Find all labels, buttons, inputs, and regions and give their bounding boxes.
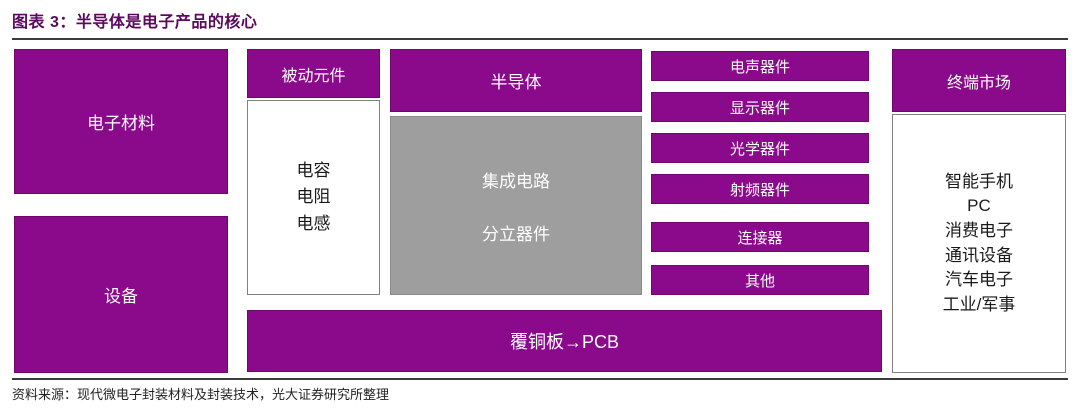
device-bar-connector: 连接器 [651, 222, 869, 252]
device-bar-label: 光学器件 [730, 138, 790, 159]
source-divider [12, 378, 1068, 380]
device-bar-label: 显示器件 [730, 97, 790, 118]
block-passive-components-body: 电容 电阻 电感 [247, 100, 380, 295]
end-market-item: 消费电子 [945, 219, 1013, 244]
figure-title: 图表 3：半导体是电子产品的核心 [12, 8, 257, 32]
title-divider [12, 38, 1068, 40]
block-end-market-title: 终端市场 [947, 69, 1011, 93]
block-end-market-body: 智能手机 PC 消费电子 通讯设备 汽车电子 工业/军事 [892, 114, 1066, 373]
device-bar-electroacoustic: 电声器件 [651, 51, 869, 81]
device-bar-display: 显示器件 [651, 92, 869, 122]
block-equipment-label: 设备 [104, 282, 138, 307]
device-bar-other: 其他 [651, 265, 869, 295]
block-semiconductor-title: 半导体 [491, 68, 542, 93]
semiconductor-item: 分立器件 [482, 220, 550, 245]
block-pcb-bar: 覆铜板→PCB [247, 310, 882, 372]
block-semiconductor-body: 集成电路 分立器件 [390, 116, 642, 295]
semiconductor-item: 集成电路 [482, 167, 550, 192]
end-market-item: PC [967, 194, 991, 219]
end-market-item: 智能手机 [945, 170, 1013, 195]
block-passive-components-header: 被动元件 [247, 49, 380, 98]
end-market-item: 通讯设备 [945, 244, 1013, 269]
device-bar-label: 其他 [745, 270, 775, 291]
block-semiconductor-header: 半导体 [390, 49, 642, 112]
passive-item: 电感 [297, 211, 331, 237]
block-pcb-label: 覆铜板→PCB [510, 328, 619, 354]
device-bar-optical: 光学器件 [651, 133, 869, 163]
block-passive-components-title: 被动元件 [281, 62, 345, 86]
block-electronic-materials: 电子材料 [14, 49, 228, 194]
block-electronic-materials-label: 电子材料 [87, 109, 155, 134]
passive-item: 电容 [297, 158, 331, 184]
block-equipment: 设备 [14, 216, 228, 373]
device-bar-label: 连接器 [737, 227, 782, 248]
device-bar-label: 射频器件 [730, 179, 790, 200]
device-bar-label: 电声器件 [730, 56, 790, 77]
source-note: 资料来源：现代微电子封装材料及封装技术，光大证券研究所整理 [12, 384, 389, 403]
passive-item: 电阻 [297, 184, 331, 210]
block-end-market-header: 终端市场 [892, 49, 1066, 112]
figure-canvas: 图表 3：半导体是电子产品的核心 电子材料 设备 被动元件 电容 电阻 电感 半… [0, 0, 1080, 418]
end-market-item: 汽车电子 [945, 268, 1013, 293]
end-market-item: 工业/军事 [943, 293, 1016, 318]
device-bar-rf: 射频器件 [651, 174, 869, 204]
